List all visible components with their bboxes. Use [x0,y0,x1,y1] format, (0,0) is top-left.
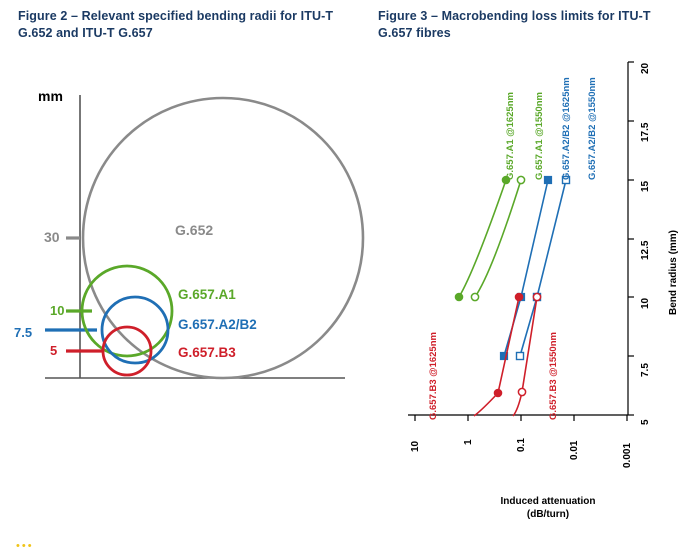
figure3-line-a1-1625 [459,180,506,297]
figure3-annotation-a2b2-1550: G.657.A2/B2 @1550nm [587,77,598,180]
figure2-series-label-g652: G.652 [175,222,213,238]
figure3-point-b3-1625 [494,389,501,396]
figure3-xlabel-10: 10 [410,441,421,452]
figure2-unit-label: mm [38,88,63,104]
figure3-ylabel-7-5: 7.5 [640,363,651,377]
figure3-xlabel-0-01: 0.01 [569,441,580,460]
figure2-tick-label-30: 30 [44,229,60,245]
figure3-ylabel-5: 5 [640,419,651,425]
figure2-circle-a2b2 [102,297,168,363]
figure3-point-a1-1550 [471,293,478,300]
figure2-series-label-a2b2: G.657.A2/B2 [178,317,257,332]
figure3-svg [370,40,685,540]
figure3-ylabel-15: 15 [640,181,651,192]
figure2-tick-label-7-5: 7.5 [14,325,32,340]
figure2-svg [0,0,370,430]
figure3-line-b3-1625 [474,297,519,416]
figure3-annotation-a1-1550: G.657.A1 @1550nm [534,92,545,180]
figure3-ylabel-17-5: 17.5 [640,123,651,142]
figure3-annotation-a2b2-1625: G.657.A2/B2 @1625nm [561,77,572,180]
figure3-annotation-b3-1550: G.657.B3 @1550nm [548,332,559,420]
figure2-chart: mm 30 10 7.5 5 G.652 G.657.A1 G.657.A2/B… [0,0,370,430]
decorative-dots: ••• [16,540,34,552]
figure2-series-label-b3: G.657.B3 [178,345,236,360]
figure3-xlabel-0-1: 0.1 [516,438,527,452]
figure3-point-a2b2-1550 [517,353,524,360]
figure3-title: Figure 3 – Macrobending loss limits for … [378,8,678,42]
figure3-ylabel-10: 10 [640,298,651,309]
figure3-point-a1-1625 [455,293,462,300]
figure2-tick-label-10: 10 [50,303,64,318]
figure3-point-b3-1625 [515,293,522,300]
figure3-point-b3-1550 [533,293,540,300]
figure2-circle-a1 [82,266,172,356]
figure2-circle-g652 [83,98,363,378]
figure3-ylabel-20: 20 [640,63,651,74]
figure3-line-a2b2-1625 [504,180,548,356]
figure3-point-b3-1550 [518,388,525,395]
figure3-xlabel-0-001: 0.001 [622,443,633,468]
figure3-line-a1-1550 [475,180,521,297]
figure3-ylabel-12-5: 12.5 [640,241,651,260]
figure3-chart: G.657.A1 @1625nm G.657.A1 @1550nm G.657.… [370,40,685,540]
figure3-annotation-a1-1625: G.657.A1 @1625nm [505,92,516,180]
figure3-x-axis-title: Induced attenuation (dB/turn) [488,495,608,521]
figure3-y-axis-title: Bend radius (mm) [668,230,679,315]
figure3-annotation-b3-1625: G.657.B3 @1625nm [428,332,439,420]
figure2-tick-label-5: 5 [50,343,57,358]
figure3-xlabel-1: 1 [463,439,474,445]
figure3-point-a2b2-1625 [545,177,552,184]
figure2-series-label-a1: G.657.A1 [178,287,236,302]
figure3-point-a1-1550 [517,176,524,183]
